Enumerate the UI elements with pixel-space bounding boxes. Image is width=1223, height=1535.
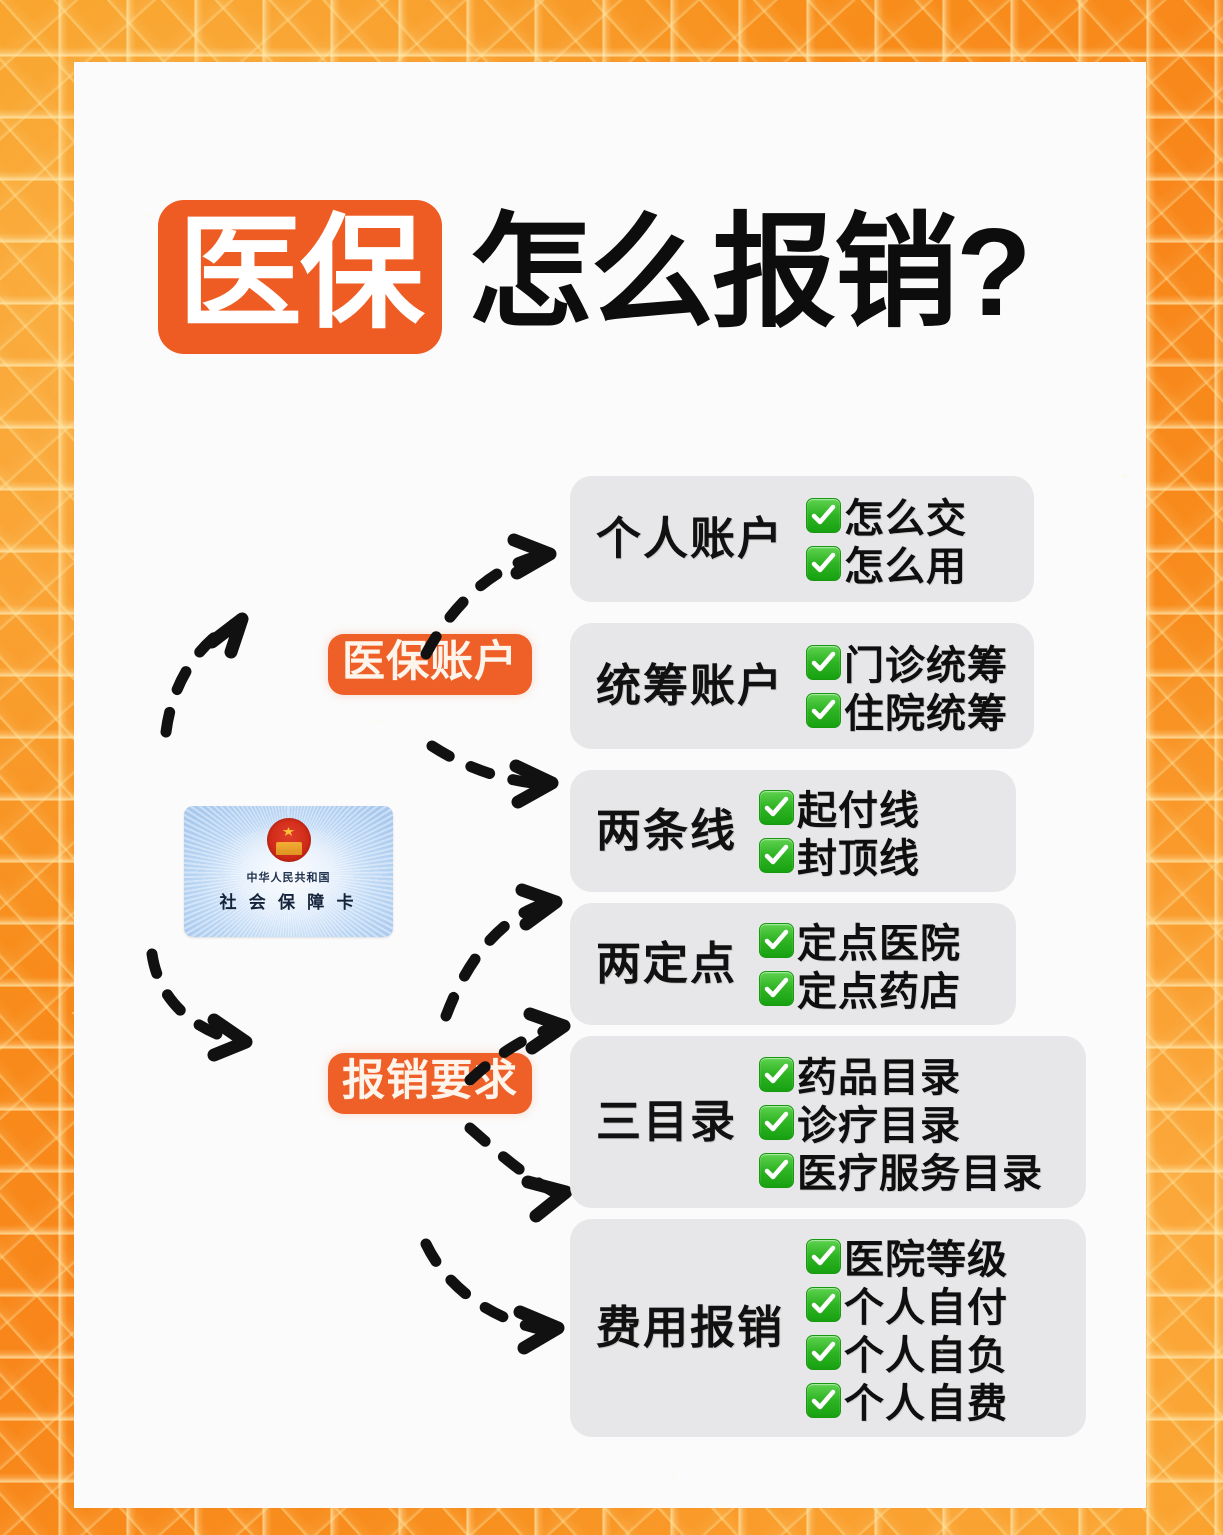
card-item[interactable]: 个人自负 <box>806 1328 1008 1376</box>
arrow-requirements-to-card-5 <box>426 1244 558 1348</box>
card-title: 个人账户 <box>596 515 784 562</box>
group-badge-accounts[interactable]: 医保账户 <box>328 634 532 695</box>
check-icon <box>759 1105 794 1140</box>
card-name-text: 社 会 保 障 卡 <box>184 888 393 913</box>
arrow-accounts-to-card-1 <box>432 746 552 802</box>
arrow-card-to-requirements <box>152 954 246 1055</box>
card-item[interactable]: 定点医院 <box>759 916 961 964</box>
info-card[interactable]: 三目录 药品目录 诊疗目录 医疗服务目录 <box>570 1036 1086 1208</box>
group-badge-requirements[interactable]: 报销要求 <box>328 1053 532 1114</box>
card-item[interactable]: 封顶线 <box>759 831 920 879</box>
card-item[interactable]: 个人自付 <box>806 1280 1008 1328</box>
check-icon <box>759 838 794 873</box>
arrow-requirements-to-card-4 <box>470 1128 566 1216</box>
card-item[interactable]: 怎么用 <box>806 539 967 587</box>
check-icon <box>759 790 794 825</box>
card-item-label: 住院统筹 <box>844 681 1008 739</box>
poster-background: 医保 怎么报销? 中华人民共和国 社 会 保 障 卡 医保账户 报销要求 .da… <box>0 0 1223 1535</box>
check-icon <box>806 498 841 533</box>
title-badge-text: 医保 <box>178 205 422 343</box>
info-card[interactable]: 个人账户 怎么交 怎么用 <box>570 476 1034 602</box>
card-item[interactable]: 门诊统筹 <box>806 638 1008 686</box>
card-title: 两条线 <box>596 807 737 854</box>
card-title: 费用报销 <box>596 1304 784 1351</box>
info-card[interactable]: 两定点 定点医院 定点药店 <box>570 903 1016 1025</box>
check-icon <box>806 1383 841 1418</box>
check-icon <box>806 693 841 728</box>
card-item[interactable]: 个人自费 <box>806 1376 1008 1424</box>
card-item-label: 封顶线 <box>797 826 920 884</box>
check-icon <box>759 1153 794 1188</box>
check-icon <box>806 1287 841 1322</box>
info-card[interactable]: 两条线 起付线 封顶线 <box>570 770 1016 892</box>
card-item-list: 医院等级 个人自付 个人自负 个人自费 <box>806 1232 1008 1424</box>
card-item[interactable]: 医疗服务目录 <box>759 1146 1043 1194</box>
national-emblem-icon <box>267 818 311 862</box>
check-icon <box>759 971 794 1006</box>
card-item-list: 门诊统筹 住院统筹 <box>806 638 1008 734</box>
info-card[interactable]: 统筹账户 门诊统筹 住院统筹 <box>570 623 1034 749</box>
title-badge: 医保 <box>158 200 442 354</box>
card-item[interactable]: 医院等级 <box>806 1232 1008 1280</box>
card-item[interactable]: 住院统筹 <box>806 686 1008 734</box>
card-country-text: 中华人民共和国 <box>184 869 393 885</box>
card-item-label: 个人自费 <box>844 1371 1008 1429</box>
card-item-label: 怎么用 <box>844 534 967 592</box>
card-item-list: 定点医院 定点药店 <box>759 916 961 1012</box>
card-title: 两定点 <box>596 940 737 987</box>
arrow-card-to-accounts <box>166 619 242 732</box>
card-item[interactable]: 药品目录 <box>759 1050 1043 1098</box>
card-item-list: 药品目录 诊疗目录 医疗服务目录 <box>759 1050 1043 1194</box>
arrow-requirements-to-card-2 <box>446 890 556 1016</box>
card-item[interactable]: 诊疗目录 <box>759 1098 1043 1146</box>
content-sheet: 医保 怎么报销? 中华人民共和国 社 会 保 障 卡 医保账户 报销要求 .da… <box>74 62 1146 1508</box>
card-title: 统筹账户 <box>596 662 784 709</box>
card-item-label: 医疗服务目录 <box>797 1141 1043 1199</box>
card-item-label: 定点药店 <box>797 959 961 1017</box>
check-icon <box>759 1057 794 1092</box>
card-item-list: 起付线 封顶线 <box>759 783 920 879</box>
check-icon <box>806 645 841 680</box>
check-icon <box>806 546 841 581</box>
page-title: 医保 怎么报销? <box>158 200 1030 354</box>
info-card[interactable]: 费用报销 医院等级 个人自付 个人自负 个人自费 <box>570 1219 1086 1437</box>
card-title: 三目录 <box>596 1098 737 1145</box>
check-icon <box>806 1335 841 1370</box>
card-item[interactable]: 定点药店 <box>759 964 961 1012</box>
social-security-card-image: 中华人民共和国 社 会 保 障 卡 <box>184 806 393 937</box>
check-icon <box>759 923 794 958</box>
card-item[interactable]: 起付线 <box>759 783 920 831</box>
card-item[interactable]: 怎么交 <box>806 491 967 539</box>
card-item-list: 怎么交 怎么用 <box>806 491 967 587</box>
check-icon <box>806 1239 841 1274</box>
title-rest-text: 怎么报销? <box>468 211 1030 335</box>
